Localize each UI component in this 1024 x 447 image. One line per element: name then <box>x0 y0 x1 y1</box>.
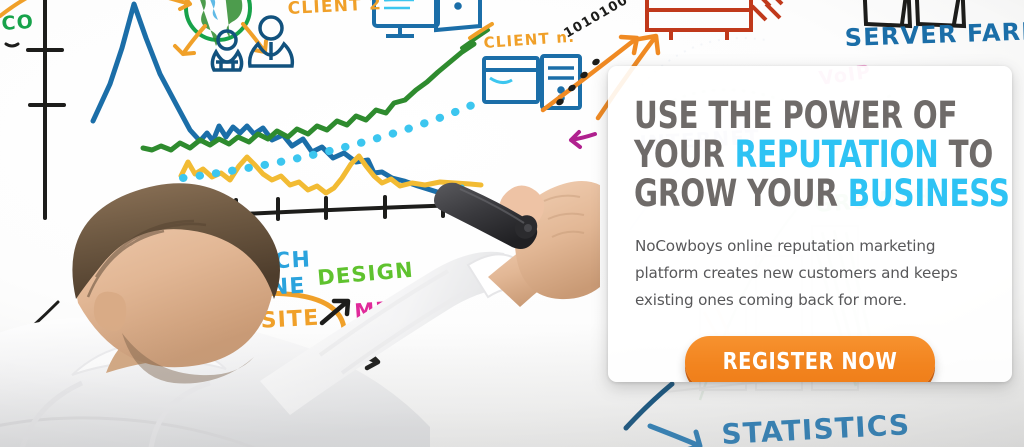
whiteboard-label-statistics: STATISTICS <box>721 408 911 447</box>
arrow-media <box>348 352 378 368</box>
whiteboard-label-plus-one: +1 <box>531 195 563 217</box>
register-now-button[interactable]: REGISTER NOW <box>685 336 935 382</box>
headline-plain-word: USE THE POWER OF <box>634 94 957 137</box>
monitor-icon <box>374 0 438 36</box>
headline-line-1: USE THE POWER OF <box>634 96 944 135</box>
whiteboard-label-co: CO <box>1 11 35 35</box>
envelope-icon <box>72 394 98 422</box>
hero-banner: COCLIENT 2CLIENT n.1010100SERVER FARMEAR… <box>0 0 1024 447</box>
whiteboard-label-client-n: CLIENT n. <box>483 28 576 52</box>
whiteboard-label-client-2: CLIENT 2 <box>287 0 382 19</box>
document-icon <box>436 0 480 30</box>
headline-plain-word: GROW YOUR <box>634 172 848 215</box>
headline-plain-word: YOUR <box>634 133 735 176</box>
whiteboard-label-search-engine-2: NGINE <box>221 274 306 303</box>
headline-line-3: GROW YOUR BUSINESS <box>634 174 944 213</box>
whiteboard-label-web-site: EB SITE <box>217 306 320 336</box>
arrow-magenta <box>571 132 595 147</box>
page-title: USE THE POWER OF YOUR REPUTATION TO GROW… <box>634 96 944 213</box>
browser-window-icon <box>484 56 580 108</box>
whiteboard-label-sms: SMS <box>23 379 70 439</box>
arrow-globe-in <box>142 0 190 9</box>
promo-card: USE THE POWER OF YOUR REPUTATION TO GROW… <box>608 66 1012 382</box>
whiteboard-label-search-engine-1: EARCH <box>221 247 312 277</box>
cta-container: REGISTER NOW <box>634 336 986 382</box>
headline-line-2: YOUR REPUTATION TO <box>634 135 944 174</box>
whiteboard-label-server-farm: SERVER FARM <box>844 17 1024 52</box>
whiteboard-label-media: MEDIA <box>354 294 435 323</box>
promo-description: NoCowboys online reputation marketing pl… <box>635 233 986 314</box>
server-rack-icon <box>647 0 782 40</box>
headline-plain-word: TO <box>939 133 994 176</box>
chart-line-yellow <box>181 156 481 193</box>
arrow-globe-left <box>175 26 205 54</box>
line-blue-bottom <box>626 384 672 428</box>
headline-accent-word: REPUTATION <box>735 133 939 176</box>
arrow-statistics <box>650 426 700 447</box>
whiteboard-label-design: DESIGN <box>316 258 414 290</box>
headline-accent-word: BUSINESS <box>848 172 1010 215</box>
chart-line-cyan-dotted <box>183 102 479 178</box>
